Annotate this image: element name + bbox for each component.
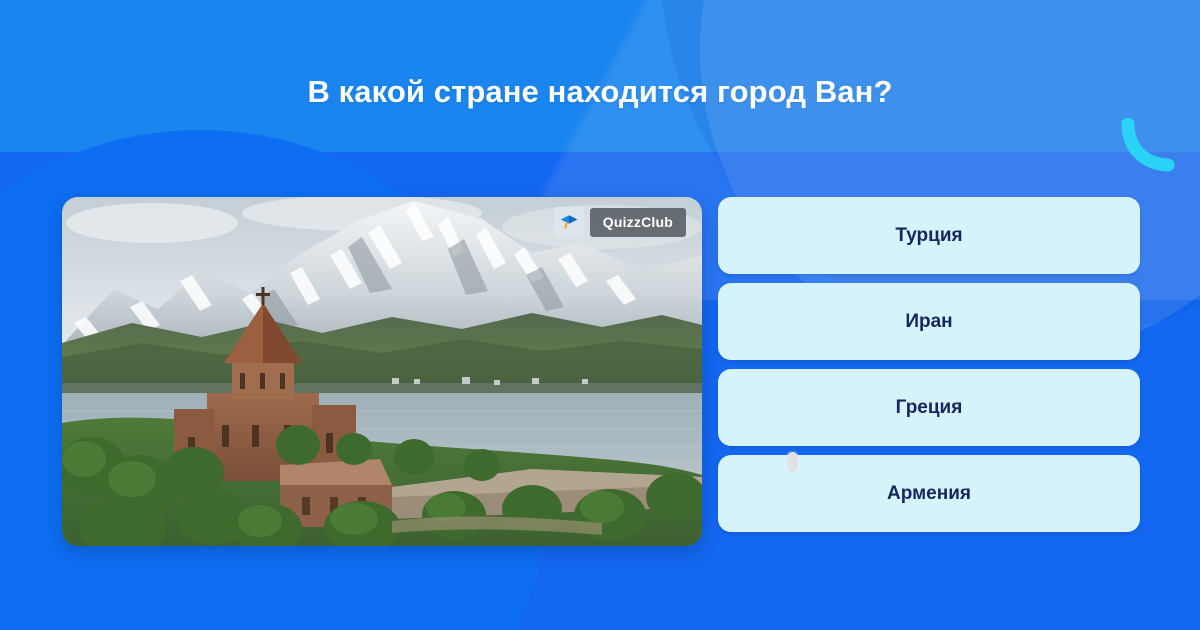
watermark-brand-label: QuizzClub <box>590 208 686 237</box>
scrollbar-thumb[interactable] <box>787 452 798 472</box>
answer-option-1[interactable]: Турция <box>718 197 1140 274</box>
answer-options-list: Турция Иран Греция Армения <box>718 197 1140 532</box>
answer-option-2[interactable]: Иран <box>718 283 1140 360</box>
question-image-card: QuizzClub <box>62 197 702 546</box>
graduation-cap-icon <box>554 207 584 237</box>
watermark: QuizzClub <box>554 207 686 237</box>
landscape-photo <box>62 197 702 546</box>
answer-option-4[interactable]: Армения <box>718 455 1140 532</box>
cyan-swoosh-icon <box>1118 118 1180 173</box>
page-title: В какой стране находится город Ван? <box>0 72 1200 112</box>
answer-option-3[interactable]: Греция <box>718 369 1140 446</box>
